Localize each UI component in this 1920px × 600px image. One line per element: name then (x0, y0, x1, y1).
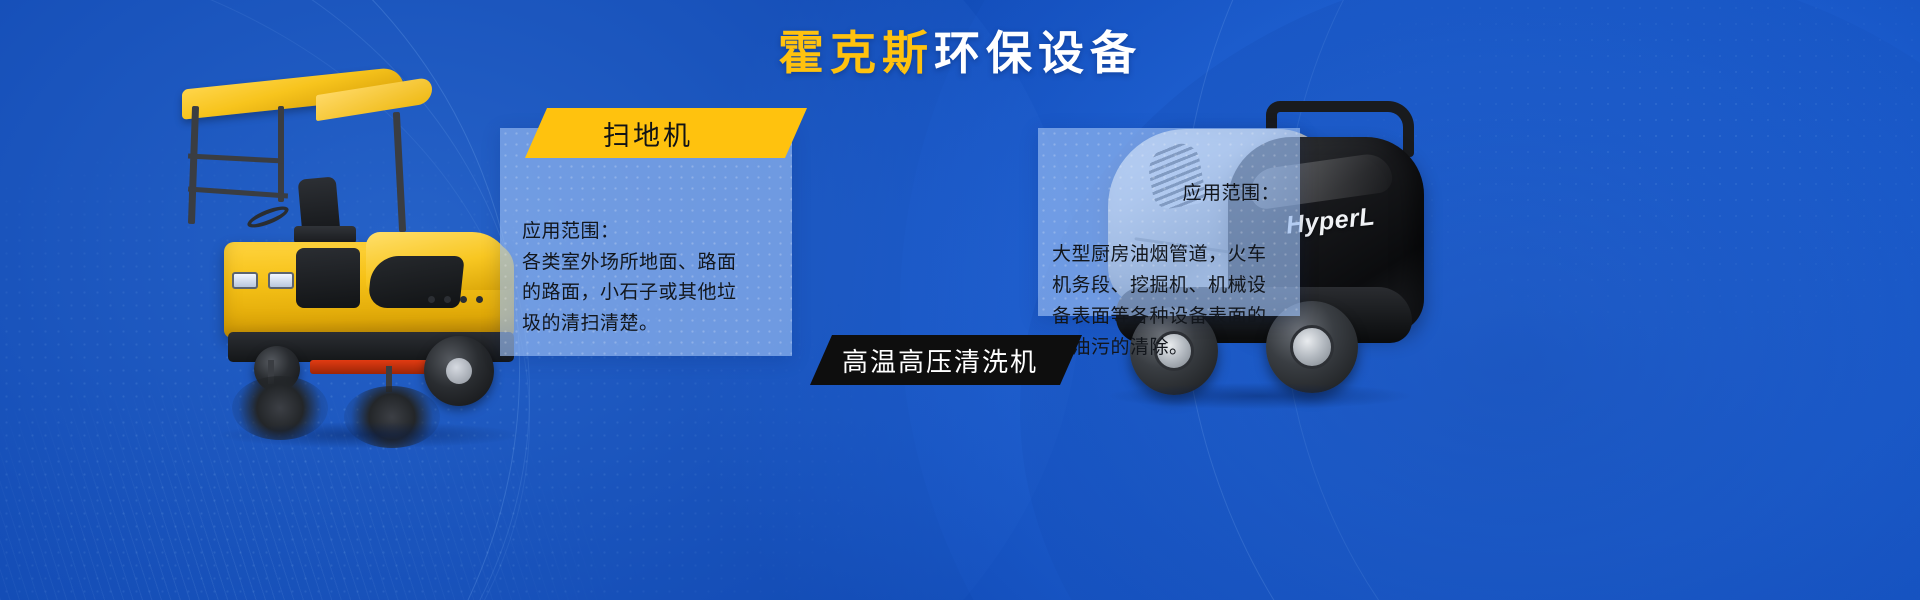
washer-info-text: 应用范围： 大型厨房油烟管道，火车 机务段、挖掘机、机械设 备表面等各种设备表面… (1038, 128, 1300, 363)
sweeper-ribbon-label[interactable]: 扫地机 (525, 108, 807, 158)
sweeper-info-body: 各类室外场所地面、路面 的路面，小石子或其他垃 圾的清扫清楚。 (522, 252, 737, 335)
promo-banner: 霍克斯环保设备 (0, 0, 1920, 600)
sweeper-vent-dot (428, 296, 435, 303)
washer-info-body: 大型厨房油烟管道，火车 机务段、挖掘机、机械设 备表面等各种设备表面的 重油污的… (1052, 244, 1267, 357)
washer-info-card: 应用范围： 大型厨房油烟管道，火车 机务段、挖掘机、机械设 备表面等各种设备表面… (1038, 128, 1300, 316)
washer-ribbon-text: 高温高压清洗机 (842, 342, 1038, 379)
sweeper-headlight-right (268, 272, 294, 289)
sweeper-vent-dot (476, 296, 483, 303)
washer-ground-shadow (1110, 383, 1410, 409)
sweeper-machine-image (128, 60, 508, 410)
sweeper-headlight-left (232, 272, 258, 289)
banner-title-brand: 霍克斯 (778, 27, 934, 79)
sweeper-ground-shadow (220, 422, 520, 448)
sweeper-vent-dot (444, 296, 451, 303)
sweeper-vent-dot (460, 296, 467, 303)
sweeper-side-panel-rear (296, 248, 360, 308)
sweeper-ribbon-text: 扫地机 (603, 114, 693, 153)
sweeper-post-left (188, 106, 199, 224)
sweeper-post-mid (278, 106, 284, 202)
sweeper-steering-wheel (245, 202, 291, 231)
sweeper-rail-upper (188, 153, 284, 163)
washer-ribbon-label[interactable]: 高温高压清洗机 (810, 335, 1082, 385)
banner-title-suffix: 环保设备 (934, 27, 1142, 79)
sweeper-front-hub (446, 358, 472, 384)
sweeper-rail-lower (188, 187, 288, 199)
washer-info-lead: 应用范围： (1052, 179, 1288, 210)
sweeper-info-text: 应用范围： 各类室外场所地面、路面 的路面，小石子或其他垃 圾的清扫清楚。 (500, 128, 792, 340)
sweeper-post-right (393, 112, 406, 232)
sweeper-info-card: 应用范围： 各类室外场所地面、路面 的路面，小石子或其他垃 圾的清扫清楚。 (500, 128, 792, 356)
sweeper-info-lead: 应用范围： (522, 221, 620, 242)
